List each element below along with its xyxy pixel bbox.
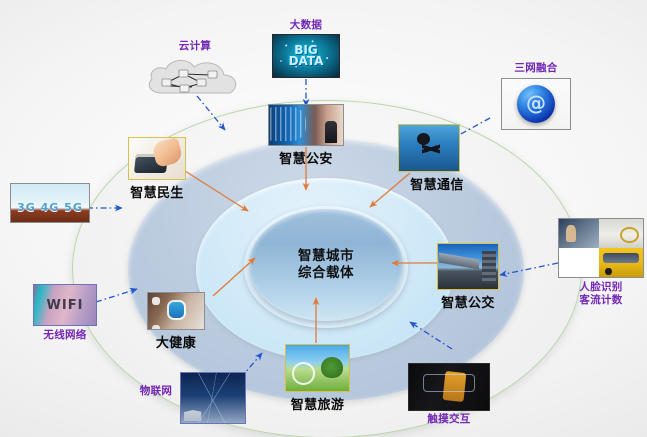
face-recognition-label-line1: 人脸识别: [558, 281, 644, 294]
smart-police-thumb: [268, 104, 344, 146]
smart-tourism-thumb: [285, 344, 350, 392]
wireless-network-thumb: WIFI: [33, 284, 97, 326]
node-smart-bus[interactable]: 智慧公交: [437, 243, 499, 311]
smart-communication-thumb: [398, 124, 460, 172]
face-recognition-thumb: [558, 218, 644, 278]
smart-bus-label: 智慧公交: [437, 292, 499, 311]
smart-bus-thumb: [437, 243, 499, 290]
smart-tourism-label: 智慧旅游: [285, 394, 350, 413]
node-smart-tourism[interactable]: 智慧旅游: [285, 344, 350, 413]
touch-interaction-label: 触摸交互: [408, 413, 490, 426]
node-smart-livelihood[interactable]: 智慧民生: [128, 137, 186, 201]
node-smart-communication[interactable]: 智慧通信: [398, 124, 468, 193]
smart-livelihood-label: 智慧民生: [128, 182, 186, 201]
cloud-computing-thumb: [140, 53, 250, 101]
iot-thumb: [180, 372, 246, 424]
face-recognition-label: 人脸识别 客流计数: [558, 281, 644, 307]
big-data-thumb-line2: DATA: [289, 56, 324, 67]
touch-interaction-thumb: [408, 363, 490, 411]
node-triple-play[interactable]: 三网融合: [490, 62, 574, 130]
smart-communication-label: 智慧通信: [406, 174, 468, 193]
node-wireless-network[interactable]: WIFI 无线网络: [33, 284, 97, 342]
mobile-generations-text: 3G 4G 5G: [17, 201, 83, 214]
wireless-network-label: 无线网络: [33, 329, 97, 342]
cloud-computing-label: 云计算: [140, 40, 250, 53]
smart-police-label: 智慧公安: [268, 148, 344, 167]
cloud-icon: [140, 53, 250, 101]
great-health-thumb: [147, 292, 205, 330]
wifi-text: WIFI: [47, 298, 84, 313]
triple-play-thumb: [501, 78, 571, 130]
big-data-thumb: BIG DATA: [272, 34, 340, 78]
big-data-label: 大数据: [272, 19, 340, 32]
face-recognition-label-line2: 客流计数: [558, 294, 644, 307]
smart-livelihood-thumb: [128, 137, 186, 180]
node-touch-interaction[interactable]: 触摸交互: [408, 363, 490, 426]
node-iot[interactable]: [180, 372, 246, 424]
mobile-comm-thumb: 3G 4G 5G: [10, 183, 90, 223]
smart-city-diagram: 智慧城市 综合载体: [0, 0, 647, 437]
node-face-recognition[interactable]: 人脸识别 客流计数: [558, 218, 644, 307]
node-cloud-computing[interactable]: 云计算: [140, 40, 250, 101]
node-great-health[interactable]: 大健康: [147, 292, 205, 351]
node-smart-police[interactable]: 智慧公安: [268, 104, 344, 167]
iot-label: 物联网: [133, 385, 179, 398]
node-big-data[interactable]: 大数据 BIG DATA: [272, 19, 340, 78]
triple-play-label: 三网融合: [498, 62, 574, 75]
great-health-label: 大健康: [147, 332, 205, 351]
